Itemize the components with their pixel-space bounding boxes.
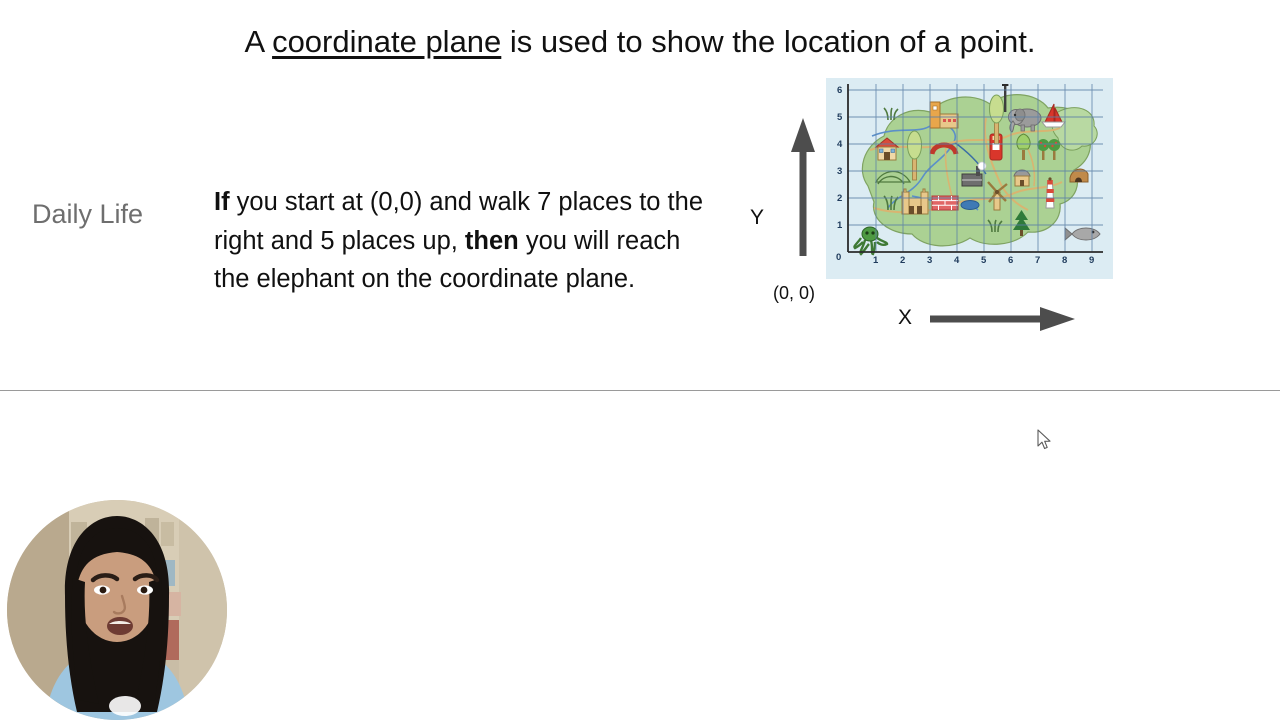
page-title-underlined-term: coordinate plane xyxy=(272,24,501,59)
axis-tick-x-2: 2 xyxy=(900,255,905,266)
origin-annotation: (0, 0) xyxy=(773,283,815,304)
presenter-webcam-avatar xyxy=(7,500,227,720)
axis-tick-y-4: 4 xyxy=(837,139,843,150)
axis-tick-x-6: 6 xyxy=(1008,255,1013,266)
up-arrow-icon xyxy=(790,118,816,256)
axis-tick-y-2: 2 xyxy=(837,193,842,204)
axis-tick-x-1: 1 xyxy=(873,255,879,266)
mouse-pointer-icon xyxy=(1037,429,1053,451)
axis-tick-x-9: 9 xyxy=(1089,255,1094,266)
axis-tick-x-8: 8 xyxy=(1062,255,1067,266)
right-arrow-icon xyxy=(930,306,1075,332)
axis-tick-x-0: 0 xyxy=(836,252,841,263)
coordinate-plane-figure: Y (0, 0) X xyxy=(740,78,1140,348)
axis-tick-x-7: 7 xyxy=(1035,255,1040,266)
axis-tick-y-5: 5 xyxy=(837,112,843,123)
section-label-daily-life: Daily Life xyxy=(32,196,143,232)
body-mid-bold: then xyxy=(465,227,519,255)
axis-tick-y-6: 6 xyxy=(837,85,842,96)
axis-tick-x-5: 5 xyxy=(981,255,987,266)
y-axis-label: Y xyxy=(750,206,764,230)
axis-tick-x-3: 3 xyxy=(927,255,932,266)
coordinate-plane-map: 0 1 2 3 4 5 6 7 8 9 1 2 3 4 5 6 xyxy=(826,78,1113,279)
x-axis-label: X xyxy=(898,306,912,330)
horizontal-divider xyxy=(0,390,1280,391)
page-title: A coordinate plane is used to show the l… xyxy=(0,22,1280,62)
pond-icon xyxy=(961,201,979,210)
body-lead-bold: If xyxy=(214,188,230,216)
page-title-suffix: is used to show the location of a point. xyxy=(501,24,1035,59)
page-title-prefix: A xyxy=(244,24,272,59)
axis-tick-x-4: 4 xyxy=(954,255,960,266)
axis-tick-y-3: 3 xyxy=(837,166,842,177)
body-paragraph: If you start at (0,0) and walk 7 places … xyxy=(214,183,709,299)
axis-tick-y-1: 1 xyxy=(837,220,843,231)
hut-icon xyxy=(1014,170,1030,186)
